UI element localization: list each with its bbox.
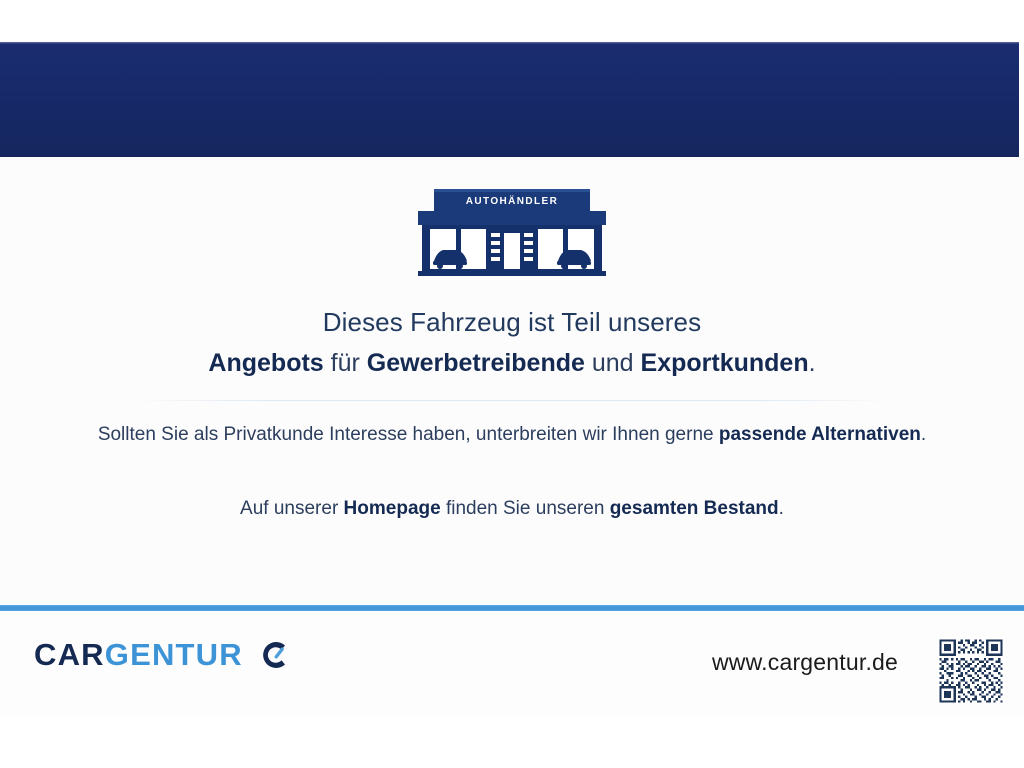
- headline-text-und: und: [585, 349, 641, 377]
- soft-divider: [128, 400, 896, 401]
- dealership-sign-label: AUTOHÄNDLER: [466, 194, 558, 207]
- headline-block: Dieses Fahrzeug ist Teil unseres Angebot…: [0, 305, 1024, 380]
- paragraph-private-customers: Sollten Sie als Privatkunde Interesse ha…: [0, 422, 1024, 448]
- headline-bold-exportkunden: Exportkunden: [641, 349, 809, 377]
- paragraph-2-text-b: finden Sie unseren: [441, 498, 610, 519]
- headline-bold-angebots: Angebots: [208, 349, 323, 377]
- headline-text-fuer: für: [324, 349, 367, 377]
- brand-logo-text-car: CAR: [34, 637, 105, 672]
- dealership-illustration: AUTOHÄNDLER: [414, 189, 610, 281]
- paragraph-1-text-a: Sollten Sie als Privatkunde Interesse ha…: [98, 424, 719, 445]
- banner-highlight: [0, 42, 1019, 44]
- headline-period: .: [809, 349, 816, 377]
- top-navy-banner: [0, 42, 1019, 157]
- paragraph-2-bold-homepage: Homepage: [344, 498, 441, 519]
- paragraph-homepage-stock: Auf unserer Homepage finden Sie unseren …: [0, 496, 1024, 522]
- paragraph-2-bold-bestand: gesamten Bestand: [610, 498, 779, 519]
- promo-card-page: AUTOHÄNDLER: [0, 0, 1024, 768]
- c-slash-mark-icon: [257, 638, 291, 672]
- footer-bar: CARGENTUR www.cargentur.de: [0, 611, 1024, 715]
- qr-code[interactable]: [937, 637, 1005, 705]
- brand-logo-wordmark: CARGENTUR: [34, 637, 243, 673]
- paragraph-2-text-c: .: [779, 498, 784, 519]
- website-url[interactable]: www.cargentur.de: [712, 649, 898, 676]
- paragraph-1-bold: passende Alternativen: [719, 424, 921, 445]
- headline-bold-gewerbetreibende: Gewerbetreibende: [367, 349, 585, 377]
- brand-logo[interactable]: CARGENTUR: [34, 637, 291, 673]
- headline-line-1: Dieses Fahrzeug ist Teil unseres: [0, 305, 1024, 339]
- paragraph-1-text-b: .: [921, 424, 926, 445]
- paragraph-2-text-a: Auf unserer: [240, 498, 344, 519]
- headline-line-2: Angebots für Gewerbetreibende und Export…: [0, 347, 1024, 380]
- brand-logo-text-gentur: GENTUR: [105, 637, 243, 672]
